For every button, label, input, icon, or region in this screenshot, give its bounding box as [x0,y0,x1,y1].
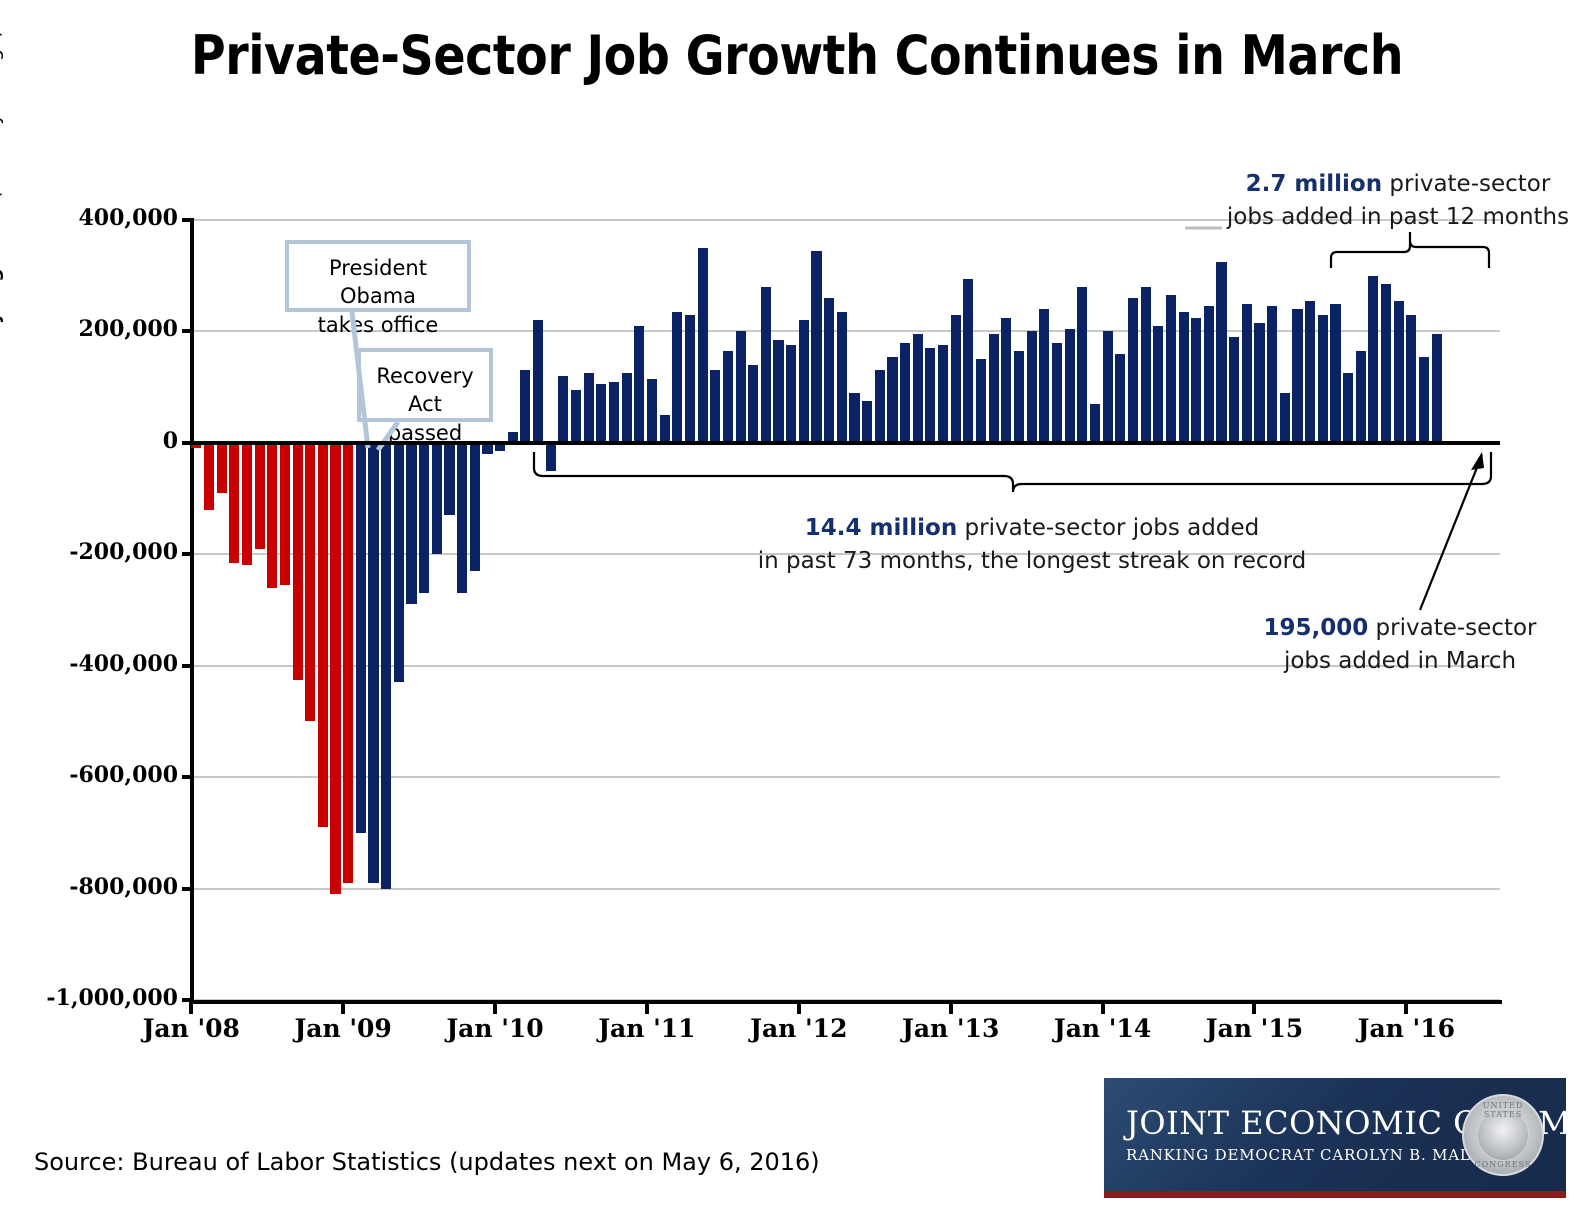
bar [330,443,340,894]
bar [1406,315,1416,443]
bar [1166,295,1176,443]
x-axis-tick [1252,1000,1256,1014]
bar [1242,304,1252,443]
bar [1330,304,1340,443]
x-axis-line [190,1000,1502,1004]
bar [558,376,568,443]
bar [1381,284,1391,443]
bar [710,370,720,442]
bar [622,373,632,443]
bar [217,443,227,493]
annotation-12-months: 2.7 million private-sector jobs added in… [1208,168,1588,235]
bar [533,320,543,443]
x-axis-tick [189,1000,193,1014]
x-axis-tick [1404,1000,1408,1014]
bar [1280,393,1290,443]
bar [811,251,821,443]
x-axis-label: Jan '16 [1341,1014,1471,1043]
bar [1153,326,1163,443]
logo-title: JOINT ECONOMIC COMMITTEE [1126,1104,1486,1142]
x-axis-tick [1101,1000,1105,1014]
bar [989,334,999,443]
congressional-seal-icon: UNITED STATES CONGRESS [1462,1094,1544,1176]
bar [824,298,834,443]
bar [1128,298,1138,443]
bar [837,312,847,443]
annotation-march-text: private-sector [1368,615,1536,641]
bar [584,373,594,443]
bar [1419,357,1429,443]
bar [609,382,619,443]
x-axis-tick [341,1000,345,1014]
bar [1254,323,1264,443]
annotation-12-months-value: 2.7 million [1246,171,1382,197]
bar [1103,331,1113,442]
callout-recovery-act: Recovery Act passed [357,348,493,422]
logo-text-block: JOINT ECONOMIC COMMITTEE RANKING DEMOCRA… [1126,1104,1486,1164]
bar [925,348,935,443]
callout-recovery-line2: Act passed [375,390,475,447]
bar [773,340,783,443]
bar [1204,306,1214,443]
annotation-streak: 14.4 million private-sector jobs added i… [752,512,1312,579]
annotation-12-months-text: private-sector [1382,171,1550,197]
bar [1014,351,1024,443]
bar [229,443,239,563]
bar [1229,337,1239,443]
bar [1001,318,1011,443]
x-axis-label: Jan '10 [430,1014,560,1043]
annotation-march: 195,000 private-sector jobs added in Mar… [1212,612,1588,679]
bar [887,357,897,443]
callout-president-obama: President Obama takes office [285,240,471,312]
callout-recovery-line1: Recovery [375,362,475,390]
bar [698,248,708,443]
x-axis-label: Jan '09 [278,1014,408,1043]
bar [368,443,378,883]
y-axis-label: -400,000 [0,651,178,677]
page-title: Private-Sector Job Growth Continues in M… [96,24,1499,87]
bar [204,443,214,510]
y-axis-label: -200,000 [0,539,178,565]
bar [1318,315,1328,443]
bar [1216,262,1226,443]
bar [938,345,948,443]
chart-container: Private-Sector Job Growth Continues in M… [0,0,1594,1231]
y-axis-label: 200,000 [0,316,178,342]
bar [849,393,859,443]
bar [875,370,885,442]
bar [900,343,910,443]
bar [356,443,366,833]
y-axis-label: -600,000 [0,762,178,788]
jec-logo: JOINT ECONOMIC COMMITTEE RANKING DEMOCRA… [1104,1078,1566,1198]
logo-subtitle: RANKING DEMOCRAT CAROLYN B. MALONEY [1126,1146,1478,1164]
source-note: Source: Bureau of Labor Statistics (upda… [34,1148,820,1176]
bar [1141,287,1151,443]
y-axis-title-regular: (monthly change) [0,30,4,199]
bar [685,315,695,443]
annotation-march-line2: jobs added in March [1212,645,1588,678]
bar [1090,404,1100,443]
annotation-streak-line2: in past 73 months, the longest streak on… [752,545,1312,578]
bar [1356,351,1366,443]
bar [1065,329,1075,443]
seal-bottom-text: CONGRESS [1464,1160,1542,1169]
annotation-march-value: 195,000 [1263,615,1368,641]
x-axis-tick [797,1000,801,1014]
bar [255,443,265,549]
bar [267,443,277,588]
bar [1191,318,1201,443]
bar [242,443,252,566]
bar [963,279,973,443]
bar [305,443,315,722]
bar [1039,309,1049,443]
y-axis-title: Private-sector job growth (monthly chang… [0,60,4,480]
bar [571,390,581,443]
bar [293,443,303,680]
bar [318,443,328,827]
bar [546,443,556,471]
bar [748,365,758,443]
bar [1343,373,1353,443]
bar [432,443,442,554]
bar [1115,354,1125,443]
callout-obama-line2: takes office [303,311,453,339]
bar [1077,287,1087,443]
bar [520,370,530,442]
bar [672,312,682,443]
bar [1432,334,1442,443]
x-axis-label: Jan '13 [886,1014,1016,1043]
bar [723,351,733,443]
bar [394,443,404,683]
x-axis-label: Jan '14 [1038,1014,1168,1043]
x-axis-tick [949,1000,953,1014]
bar [736,331,746,442]
x-axis-label: Jan '11 [582,1014,712,1043]
y-axis-label: -1,000,000 [0,985,178,1011]
annotation-streak-value: 14.4 million [805,515,957,541]
annotation-streak-text: private-sector jobs added [957,515,1259,541]
bar [1052,343,1062,443]
bar [419,443,429,593]
y-axis-label: -800,000 [0,874,178,900]
bar [457,443,467,593]
y-axis-label: 400,000 [0,205,178,231]
bar [862,401,872,443]
bar [1368,276,1378,443]
x-axis-tick [645,1000,649,1014]
y-axis-label: 0 [0,428,178,454]
bar [761,287,771,443]
bar [913,334,923,443]
x-axis-label: Jan '08 [126,1014,256,1043]
callout-obama-line1: President Obama [303,254,453,311]
bar [1394,301,1404,443]
bar [1179,312,1189,443]
bar [444,443,454,515]
bar [786,345,796,443]
bar [596,384,606,443]
bar [634,326,644,443]
x-axis-label: Jan '15 [1189,1014,1319,1043]
x-axis-label: Jan '12 [734,1014,864,1043]
seal-top-text: UNITED STATES [1464,1101,1542,1119]
bar [660,415,670,443]
bar [647,379,657,443]
annotation-12-months-line2: jobs added in past 12 months [1208,201,1588,234]
bar [343,443,353,883]
bar [1027,331,1037,442]
bar [1267,306,1277,443]
bar [470,443,480,571]
bar [280,443,290,585]
zero-line [190,441,1500,445]
bar [799,320,809,443]
bar [951,315,961,443]
bar [1292,309,1302,443]
bar [976,359,986,443]
x-axis-tick [493,1000,497,1014]
bar [1305,301,1315,443]
bar [381,443,391,889]
bar [406,443,416,605]
